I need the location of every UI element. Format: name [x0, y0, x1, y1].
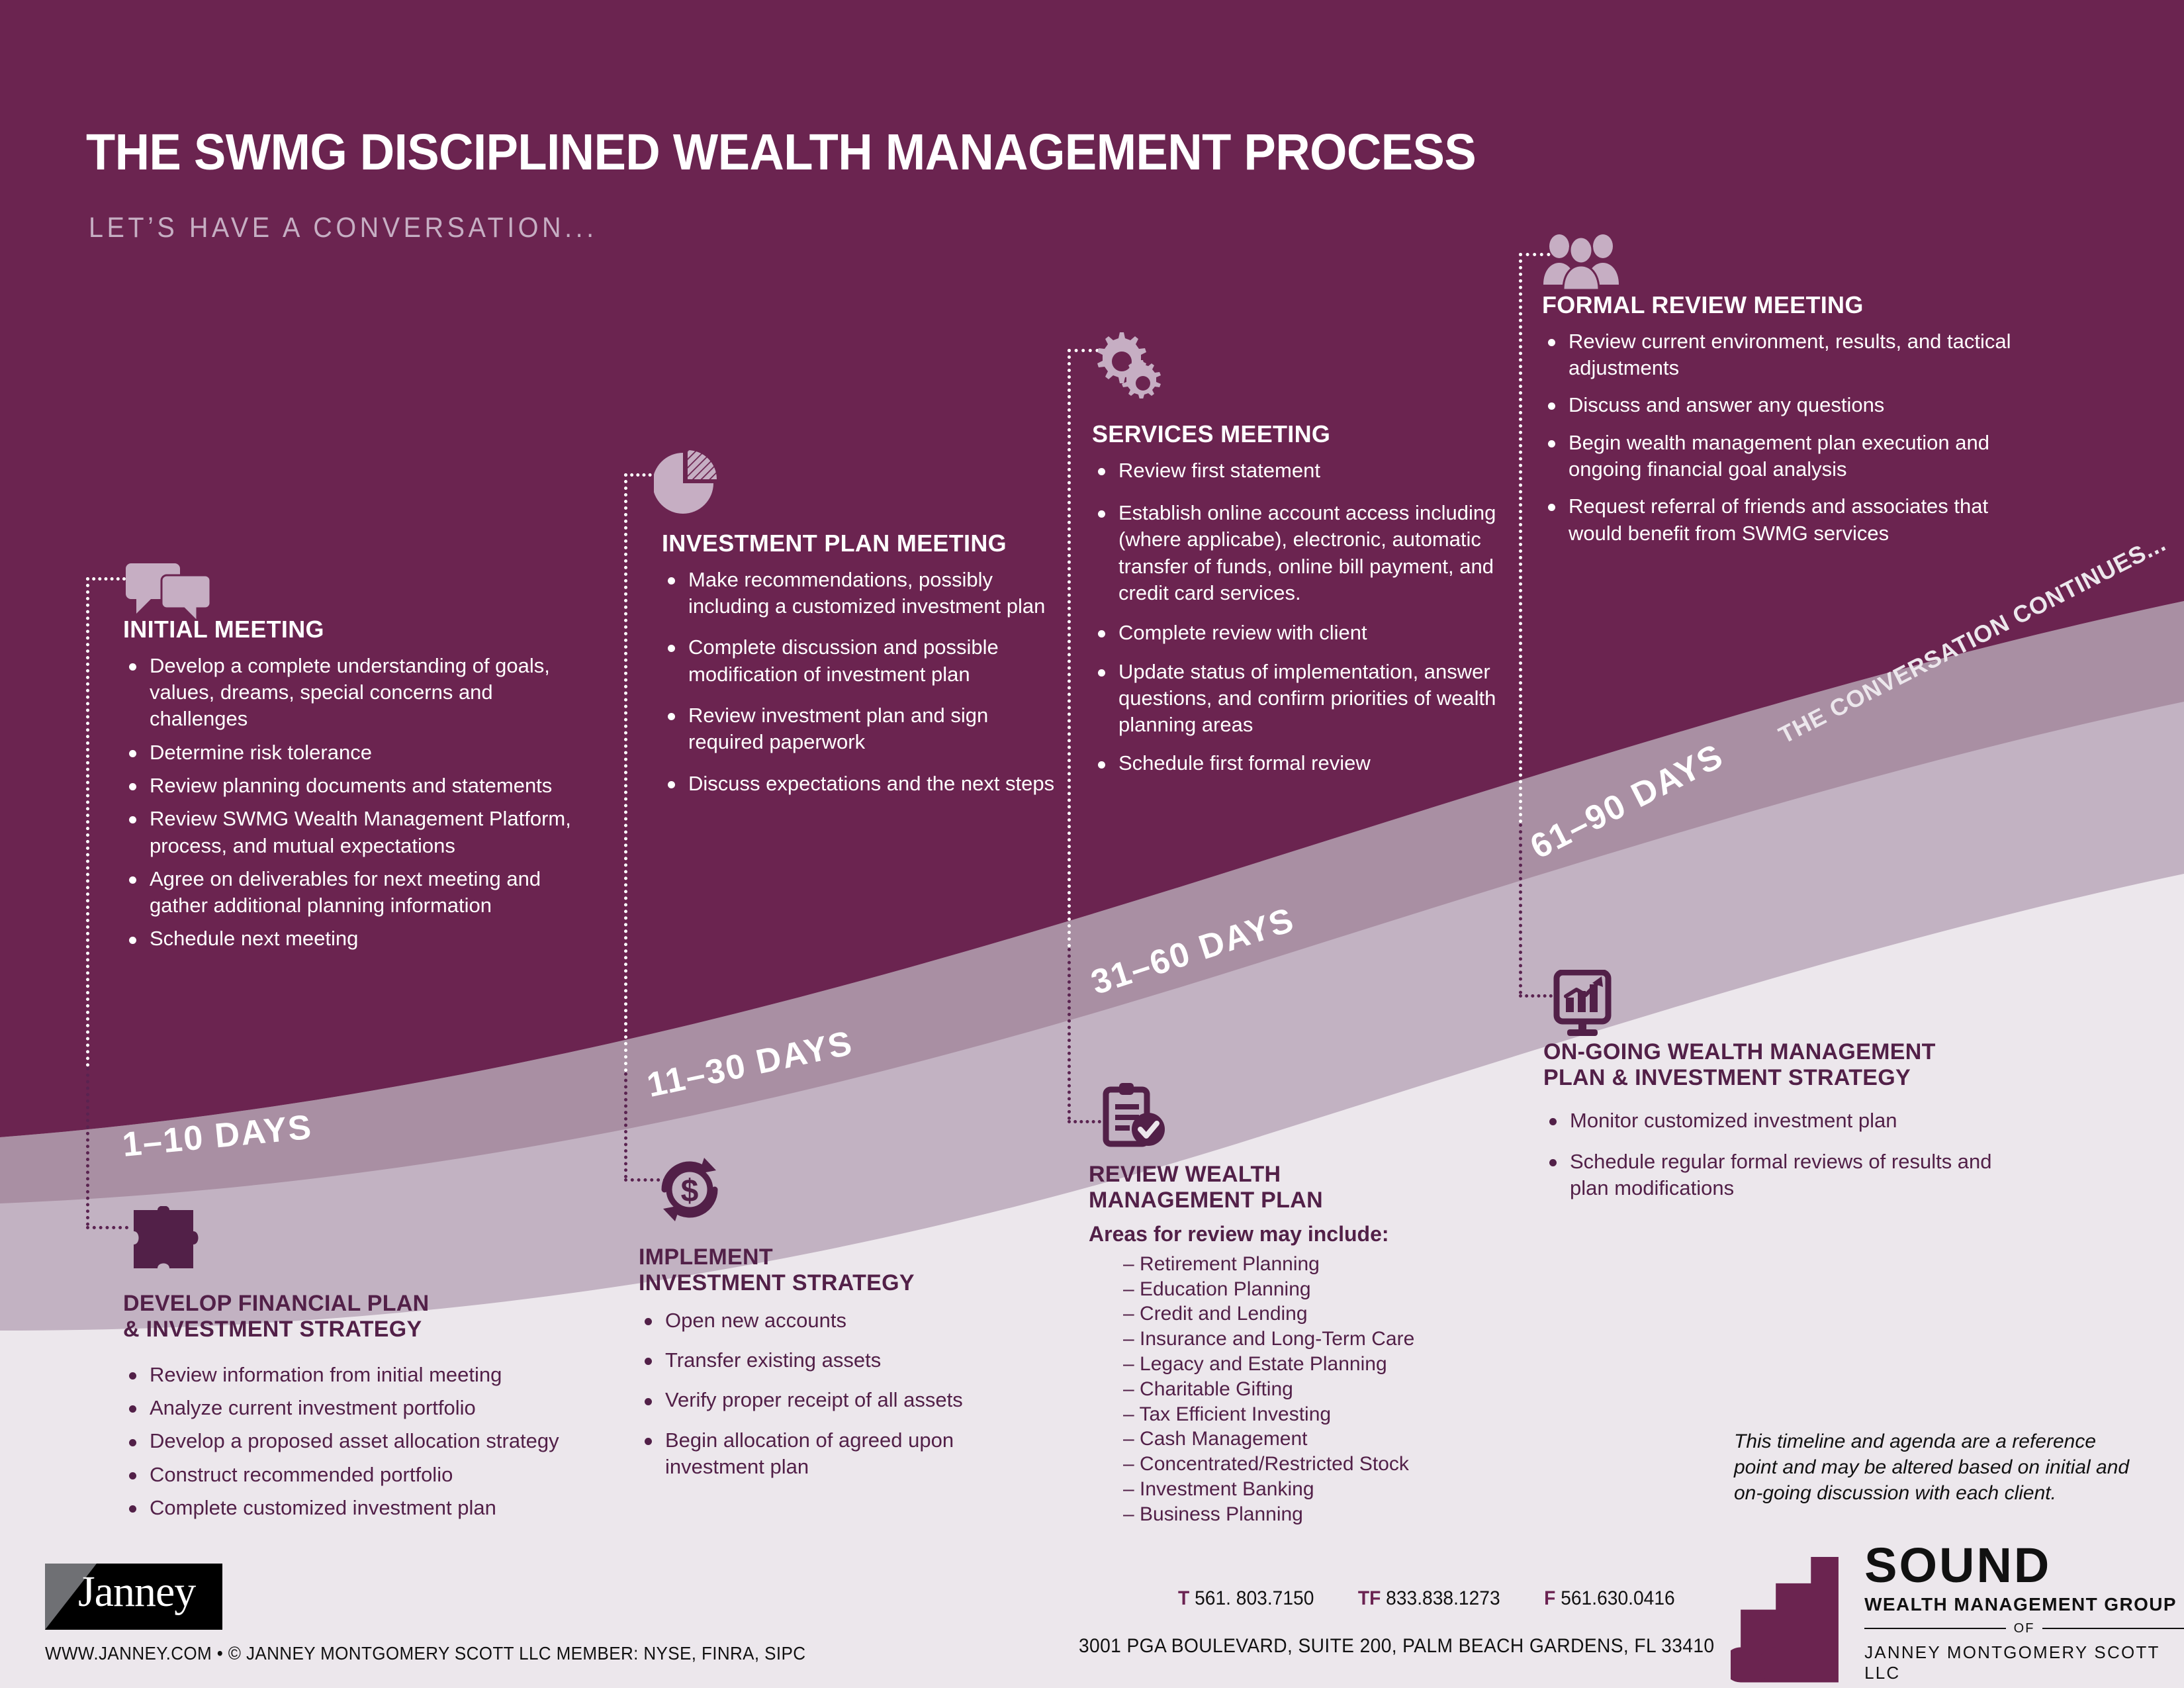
- janney-legal-line: WWW.JANNEY.COM • © JANNEY MONTGOMERY SCO…: [45, 1643, 805, 1664]
- list-item: – Investment Banking: [1123, 1477, 1552, 1502]
- step-heading: INVESTMENT PLAN MEETING: [662, 530, 1066, 557]
- puzzle-piece-icon: [130, 1206, 209, 1280]
- connector-line-col4: [1519, 253, 1522, 823]
- disclaimer-text: This timeline and agenda are a reference…: [1734, 1429, 2131, 1506]
- list-item: Monitor customized investment plan: [1543, 1107, 2007, 1134]
- step-bullet-list: Make recommendations, possibly including…: [662, 567, 1066, 797]
- step-investment-plan-meeting: INVESTMENT PLAN MEETING Make recommendat…: [662, 530, 1066, 804]
- janney-logo: Janney: [45, 1564, 222, 1630]
- step-bullet-list: Review current environment, results, and…: [1542, 328, 2019, 547]
- list-item: Complete review with client: [1092, 620, 1509, 646]
- list-item: Complete customized investment plan: [123, 1495, 586, 1521]
- phone-t-label: T: [1178, 1587, 1189, 1609]
- pie-chart-icon: [654, 450, 721, 518]
- connector-line-col3: [1068, 349, 1071, 948]
- step-initial-meeting: INITIAL MEETING Develop a complete under…: [123, 616, 586, 959]
- list-item: Update status of implementation, answer …: [1092, 659, 1509, 739]
- sound-logo-text: SOUND WEALTH MANAGEMENT GROUP OF JANNEY …: [1864, 1542, 2184, 1686]
- list-item: Agree on deliverables for next meeting a…: [123, 866, 586, 919]
- step-bullet-list: Open new accounts Transfer existing asse…: [639, 1307, 1049, 1480]
- list-item: Discuss expectations and the next steps: [662, 771, 1066, 797]
- list-item: Review planning documents and statements: [123, 773, 586, 799]
- monitor-chart-icon: [1549, 970, 1623, 1039]
- list-item: Review current environment, results, and…: [1542, 328, 2019, 382]
- list-item: Establish online account access includin…: [1092, 500, 1509, 606]
- list-item: Verify proper receipt of all assets: [639, 1387, 1049, 1413]
- list-item: – Tax Efficient Investing: [1123, 1402, 1552, 1427]
- list-item: Open new accounts: [639, 1307, 1049, 1334]
- sound-logo-rule: OF: [1864, 1621, 2184, 1636]
- janney-wordmark: Janney: [78, 1570, 195, 1614]
- dollar-refresh-icon: $: [655, 1155, 724, 1224]
- step-bullet-list: Review first statement Establish online …: [1092, 457, 1509, 777]
- sound-wealth-management-logo: SOUND WEALTH MANAGEMENT GROUP OF JANNEY …: [1731, 1542, 2184, 1686]
- list-item: Begin allocation of agreed upon investme…: [639, 1427, 1049, 1481]
- step-review-wealth-management-plan: REVIEW WEALTH MANAGEMENT PLAN Areas for …: [1089, 1162, 1552, 1527]
- phone-tf-label: TF: [1358, 1587, 1381, 1609]
- step-bullet-list: Review information from initial meeting …: [123, 1362, 586, 1521]
- step-formal-review-meeting: FORMAL REVIEW MEETING Review current env…: [1542, 291, 2019, 553]
- infographic-canvas: THE SWMG DISCIPLINED WEALTH MANAGEMENT P…: [0, 0, 2184, 1688]
- connector-line-col1-lower: [86, 1067, 89, 1226]
- step-heading: INITIAL MEETING: [123, 616, 586, 643]
- list-item: – Business Planning: [1123, 1502, 1552, 1527]
- connector-line-col4-lower: [1519, 823, 1522, 994]
- areas-list: – Retirement Planning – Education Planni…: [1089, 1252, 1552, 1527]
- step-heading: IMPLEMENT INVESTMENT STRATEGY: [639, 1244, 1049, 1297]
- page-subtitle: LET’S HAVE A CONVERSATION...: [89, 212, 598, 244]
- sound-logo-name: SOUND: [1864, 1542, 2184, 1589]
- step-implement-investment-strategy: IMPLEMENT INVESTMENT STRATEGY Open new a…: [639, 1244, 1049, 1487]
- step-services-meeting: SERVICES MEETING Review first statement …: [1092, 420, 1509, 784]
- step-heading: DEVELOP FINANCIAL PLAN & INVESTMENT STRA…: [123, 1291, 586, 1343]
- list-item: Complete discussion and possible modific…: [662, 634, 1066, 688]
- step-heading: REVIEW WEALTH MANAGEMENT PLAN: [1089, 1162, 1552, 1214]
- list-item: Schedule next meeting: [123, 925, 586, 952]
- sound-bars-icon: [1731, 1548, 1848, 1686]
- connector-line-col2: [624, 473, 627, 1072]
- step-bullet-list: Develop a complete understanding of goal…: [123, 653, 586, 953]
- list-item: Review SWMG Wealth Management Platform, …: [123, 806, 586, 859]
- connector-stub-col1-bottom: [86, 1226, 128, 1229]
- list-item: Review first statement: [1092, 457, 1509, 484]
- list-item: Construct recommended portfolio: [123, 1462, 586, 1488]
- step-heading: FORMAL REVIEW MEETING: [1542, 291, 2019, 319]
- phone-tf-value: 833.838.1273: [1386, 1587, 1500, 1609]
- list-item: – Legacy and Estate Planning: [1123, 1352, 1552, 1377]
- step-subheading: Areas for review may include:: [1089, 1222, 1552, 1246]
- list-item: – Insurance and Long-Term Care: [1123, 1327, 1552, 1352]
- list-item: Discuss and answer any questions: [1542, 392, 2019, 418]
- list-item: – Education Planning: [1123, 1277, 1552, 1302]
- list-item: – Cash Management: [1123, 1427, 1552, 1452]
- connector-line-col1: [86, 577, 89, 1067]
- step-bullet-list: Monitor customized investment plan Sched…: [1543, 1107, 2007, 1202]
- page-title: THE SWMG DISCIPLINED WEALTH MANAGEMENT P…: [86, 123, 1476, 182]
- phone-f-value: 561.630.0416: [1561, 1587, 1675, 1609]
- list-item: Schedule first formal review: [1092, 750, 1509, 776]
- phone-f-label: F: [1544, 1587, 1555, 1609]
- connector-line-col3-lower: [1068, 948, 1071, 1120]
- phone-t-value: 561. 803.7150: [1195, 1587, 1314, 1609]
- clipboard-check-icon: [1095, 1080, 1168, 1153]
- list-item: Develop a proposed asset allocation stra…: [123, 1428, 586, 1454]
- list-item: – Charitable Gifting: [1123, 1377, 1552, 1402]
- list-item: Make recommendations, possibly including…: [662, 567, 1066, 620]
- contact-phones: T 561. 803.7150 TF 833.838.1273 F 561.63…: [1178, 1587, 1675, 1610]
- step-ongoing-wealth-management: ON-GOING WEALTH MANAGEMENT PLAN & INVEST…: [1543, 1039, 2007, 1209]
- sound-logo-of: OF: [2014, 1621, 2035, 1636]
- step-develop-financial-plan: DEVELOP FINANCIAL PLAN & INVESTMENT STRA…: [123, 1291, 586, 1528]
- svg-text:$: $: [681, 1174, 699, 1209]
- list-item: Review investment plan and sign required…: [662, 702, 1066, 756]
- list-item: Determine risk tolerance: [123, 739, 586, 766]
- sound-logo-parent: JANNEY MONTGOMERY SCOTT LLC: [1864, 1642, 2184, 1683]
- list-item: Begin wealth management plan execution a…: [1542, 430, 2019, 483]
- connector-line-col2-lower: [624, 1072, 627, 1178]
- list-item: Develop a complete understanding of goal…: [123, 653, 586, 733]
- rule-left: [1864, 1628, 2006, 1629]
- list-item: Analyze current investment portfolio: [123, 1395, 586, 1421]
- connector-stub-col1-top: [86, 577, 126, 581]
- step-heading: SERVICES MEETING: [1092, 420, 1509, 448]
- list-item: Schedule regular formal reviews of resul…: [1543, 1149, 2007, 1202]
- step-heading: ON-GOING WEALTH MANAGEMENT PLAN & INVEST…: [1543, 1039, 2007, 1092]
- contact-address: 3001 PGA BOULEVARD, SUITE 200, PALM BEAC…: [1079, 1635, 1714, 1658]
- rule-right: [2042, 1628, 2184, 1629]
- list-item: Request referral of friends and associat…: [1542, 493, 2019, 547]
- list-item: Review information from initial meeting: [123, 1362, 586, 1388]
- people-group-icon: [1542, 233, 1620, 290]
- list-item: – Credit and Lending: [1123, 1301, 1552, 1327]
- sound-logo-tagline: WEALTH MANAGEMENT GROUP: [1864, 1594, 2184, 1615]
- list-item: Transfer existing assets: [639, 1347, 1049, 1374]
- gears-icon: [1091, 330, 1167, 399]
- list-item: – Retirement Planning: [1123, 1252, 1552, 1277]
- list-item: – Concentrated/Restricted Stock: [1123, 1452, 1552, 1477]
